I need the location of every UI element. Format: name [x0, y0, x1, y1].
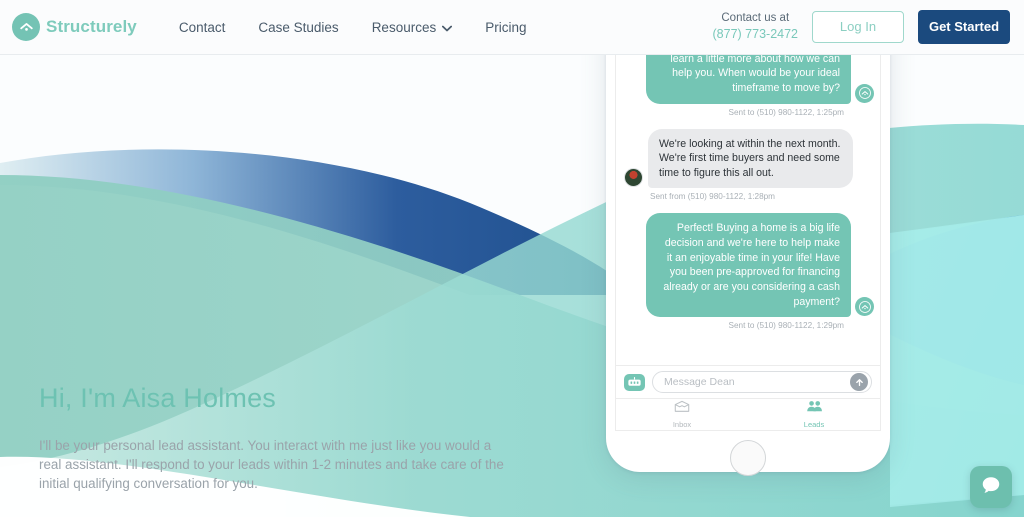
brand-name: Structurely	[46, 17, 137, 37]
message-timestamp: Sent to (510) 980-1122, 1:29pm	[624, 321, 874, 330]
chat-widget-button[interactable]	[970, 466, 1012, 508]
message-timestamp: Sent from (510) 980-1122, 1:28pm	[624, 192, 874, 201]
landing-page: Structurely Contact Case Studies Resourc…	[0, 0, 1024, 517]
nav-label: Case Studies	[258, 20, 338, 35]
house-circle-logo-icon	[12, 13, 40, 41]
tab-inbox[interactable]: Inbox	[616, 399, 748, 430]
message-timestamp: Sent to (510) 980-1122, 1:25pm	[624, 108, 874, 117]
speech-bubble-icon	[980, 474, 1002, 501]
nav-item-resources[interactable]: Resources	[372, 20, 453, 35]
nav-label: Pricing	[485, 20, 526, 35]
get-started-button[interactable]: Get Started	[918, 10, 1010, 44]
hero-body-text: I'll be your personal lead assistant. Yo…	[39, 436, 509, 493]
tab-label: Leads	[804, 420, 824, 429]
hero-title: Hi, I'm Aisa Holmes	[39, 383, 509, 414]
tab-leads[interactable]: Leads	[748, 399, 880, 430]
login-button[interactable]: Log In	[812, 11, 904, 43]
people-group-icon	[806, 400, 823, 418]
header-actions: Contact us at (877) 773-2472 Log In Get …	[713, 10, 1010, 44]
home-button[interactable]	[730, 440, 766, 476]
message-bubble: Perfect! Buying a home is a big life dec…	[646, 213, 851, 317]
inbox-tray-icon	[674, 400, 690, 418]
structurely-logo-avatar-icon	[855, 297, 874, 316]
phone-tab-bar: Inbox Leads	[615, 399, 881, 431]
message-input[interactable]: Message Dean	[652, 371, 872, 393]
brand-logo[interactable]: Structurely	[12, 13, 137, 41]
phone-mockup: Great! I will pass this on to my team an…	[606, 0, 890, 472]
message-input-placeholder: Message Dean	[664, 376, 850, 388]
message-composer: Message Dean	[615, 365, 881, 399]
contact-label: Contact us at	[713, 11, 798, 27]
structurely-logo-avatar-icon	[855, 84, 874, 103]
nav-label: Resources	[372, 20, 437, 35]
nav-item-contact[interactable]: Contact	[179, 20, 226, 35]
contact-info: Contact us at (877) 773-2472	[713, 11, 798, 43]
nav-item-case-studies[interactable]: Case Studies	[258, 20, 338, 35]
contact-phone[interactable]: (877) 773-2472	[713, 26, 798, 43]
hero-section: Hi, I'm Aisa Holmes I'll be your persona…	[39, 383, 509, 493]
chat-message-incoming: We're looking at within the next month. …	[624, 129, 874, 202]
arrow-up-send-icon[interactable]	[850, 373, 868, 391]
chevron-down-icon	[442, 20, 452, 35]
chat-message-outgoing: Perfect! Buying a home is a big life dec…	[624, 213, 874, 330]
robot-bot-icon[interactable]	[624, 374, 645, 391]
site-header: Structurely Contact Case Studies Resourc…	[0, 0, 1024, 55]
tab-label: Inbox	[673, 420, 691, 429]
message-bubble: We're looking at within the next month. …	[648, 129, 853, 189]
lead-person-avatar	[624, 168, 643, 187]
nav-label: Contact	[179, 20, 226, 35]
main-nav: Contact Case Studies Resources Pricing	[179, 20, 527, 35]
nav-item-pricing[interactable]: Pricing	[485, 20, 526, 35]
